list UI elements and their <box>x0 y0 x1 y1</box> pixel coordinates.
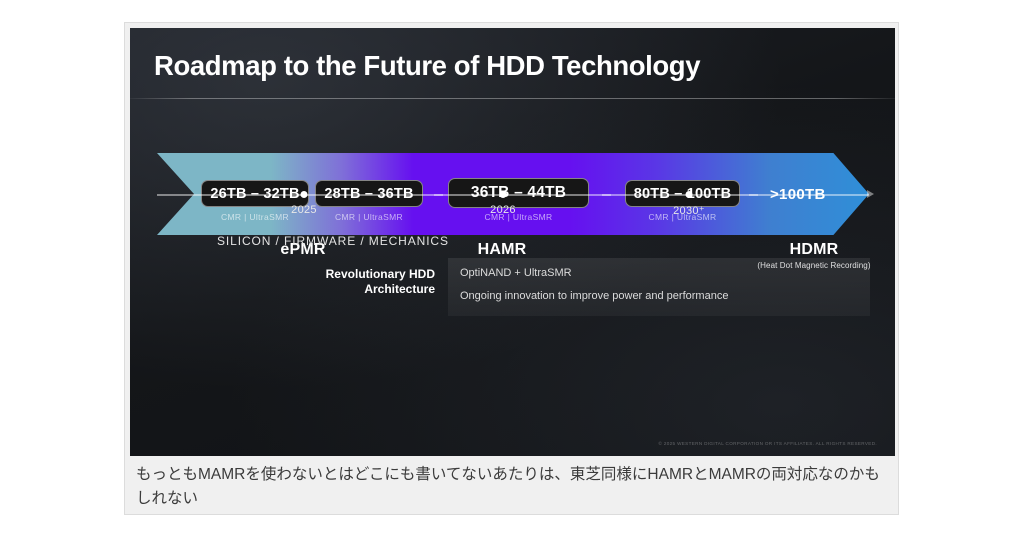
timeline-year-2025: 2025 <box>291 204 317 216</box>
capacity-box-3: 36TB – 44TB <box>448 178 589 208</box>
page-title: Roadmap to the Future of HDD Technology <box>154 50 700 82</box>
architecture-row-label-line2: Architecture <box>305 282 435 297</box>
tech-name-hamr: HAMR <box>478 241 527 258</box>
timeline-axis <box>157 194 869 196</box>
architecture-row-label-line1: Revolutionary HDD <box>305 267 435 282</box>
timeline-arrowhead-icon <box>867 190 874 198</box>
architecture-row-label: Revolutionary HDD Architecture <box>305 267 435 297</box>
figure-caption: もっともMAMRを使わないとはどこにも書いてないあたりは、東芝同様にHAMRとM… <box>130 456 893 511</box>
architecture-value-line1: OptiNAND + UltraSMR <box>460 267 572 279</box>
capacity-sub-2: CMR | UltraSMR <box>315 212 423 222</box>
tech-name-hdmr: HDMR <box>790 241 839 258</box>
timeline-year-2030: 2030⁺ <box>673 204 705 217</box>
silicon-firmware-heading: SILICON / FIRMWARE / MECHANICS <box>217 234 449 248</box>
timeline-year-2026: 2026 <box>490 204 516 216</box>
architecture-value-line2: Ongoing innovation to improve power and … <box>460 290 728 302</box>
hdd-roadmap-slide: Roadmap to the Future of HDD Technology … <box>130 28 895 456</box>
capacity-sub-3: CMR | UltraSMR <box>448 212 589 222</box>
figure-container: Roadmap to the Future of HDD Technology … <box>124 22 899 515</box>
tech-label-hamr: HAMR <box>478 241 527 259</box>
title-divider <box>130 98 895 99</box>
timeline-dot-2025 <box>301 191 308 198</box>
timeline-dot-2026 <box>500 191 507 198</box>
timeline-dot-2030 <box>686 191 693 198</box>
copyright-notice: © 2025 WESTERN DIGITAL CORPORATION OR IT… <box>658 441 877 446</box>
